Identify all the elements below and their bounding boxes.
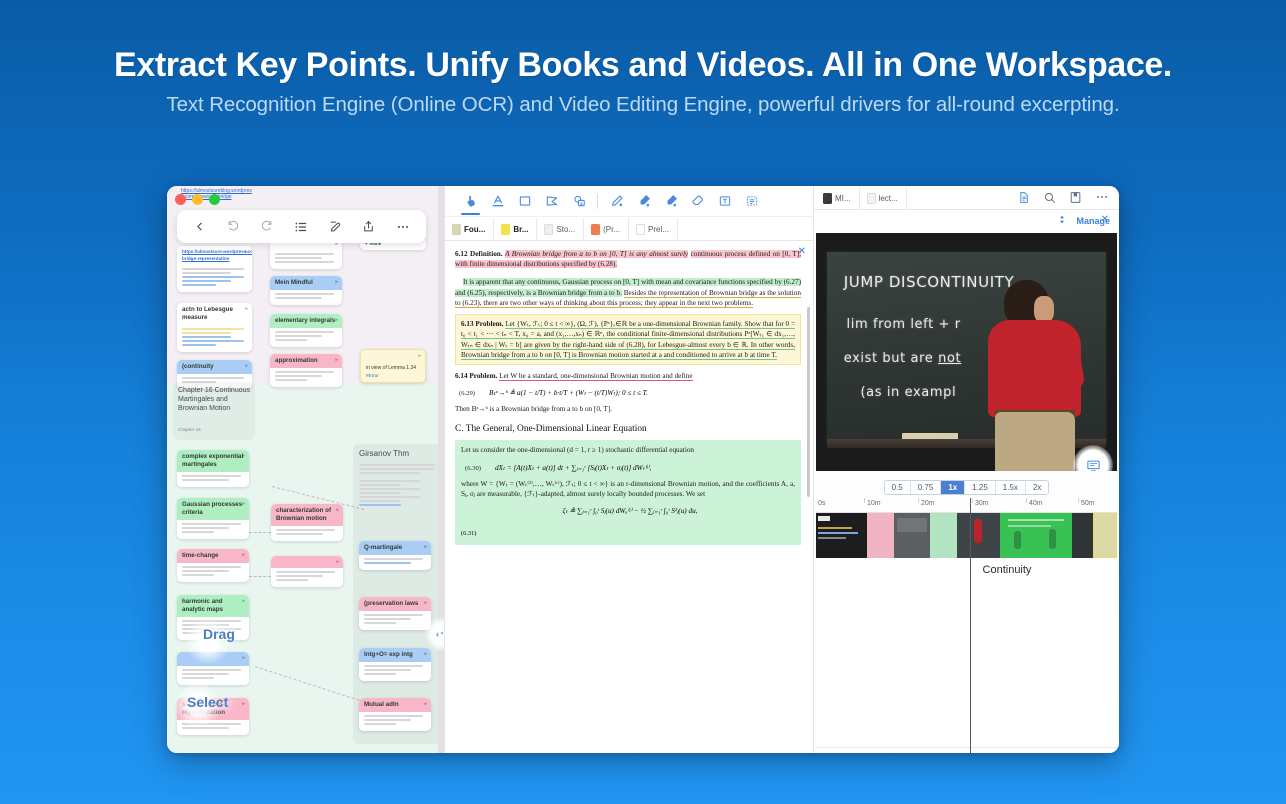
lecturer-pants	[995, 412, 1075, 471]
equation-zeta-expression: ζₜ ≜ ∑ⱼ₌₁ʳ ∫₀ᵗ Sⱼ(u) dWᵤ⁽ʲ⁾ − ½ ∑ⱼ₌₁ʳ ∫₀…	[563, 506, 698, 515]
note-tool-icon[interactable]	[738, 188, 765, 215]
mindmap-node-label: elementary integrals	[275, 317, 335, 324]
drag-label: Drag	[203, 626, 235, 642]
equation-631-number: (6.31)	[461, 530, 476, 537]
bookmark-icon[interactable]	[1069, 191, 1082, 209]
chevron-left-icon: ‹	[436, 629, 439, 639]
mindmap-node-label: (preservation laws	[364, 600, 418, 607]
sort-icon[interactable]	[1057, 212, 1067, 230]
edit-icon[interactable]	[329, 220, 342, 233]
timeline-ruler[interactable]: 0s 10m 20m 30m 40m 50m	[816, 498, 1117, 513]
tab-label: Fou...	[464, 225, 485, 234]
mindmap-pane[interactable]: https://almostsureblog.wordpress.com/bro…	[167, 186, 444, 753]
timeline-clip[interactable]	[867, 513, 894, 558]
blackboard-line-3: exist but are not	[844, 351, 961, 366]
ruler-tick: 50m	[1081, 500, 1095, 507]
definition-paragraph: 6.12 Definition. A Brownian bridge from …	[455, 249, 801, 269]
document-scrollbar[interactable]	[807, 307, 810, 497]
page-subtitle: Text Recognition Engine (Online OCR) and…	[0, 93, 1286, 117]
mindmap-node[interactable]: ▸ in view of Lemma 1.34 #Error	[360, 349, 426, 383]
undo-icon[interactable]	[227, 220, 240, 233]
mindmap-node[interactable]: ▸Mein Mindful	[270, 276, 342, 305]
select-label: Select	[187, 694, 228, 710]
pointer-tool-icon[interactable]	[457, 188, 484, 215]
equation-629-expression: Bₜᵃ→ᵇ ≜ a(1 − t/T) + b·t/T + (Wₜ − (t/T)…	[489, 388, 648, 397]
mindmap-node-label: in view of Lemma 1.34	[366, 365, 420, 371]
equation-629-followup: Then Bᵃ→ᵇ is a Brownian bridge from a to…	[455, 404, 801, 414]
handle-dot-icon: •	[441, 631, 443, 637]
apparent-paragraph: It is apparent that any continuous, Gaus…	[455, 277, 801, 308]
highlighter-yellow-icon[interactable]	[657, 188, 684, 215]
para-2: Let us consider the one-dimensional (d =…	[461, 445, 795, 455]
equation-630-number: (6.30)	[465, 465, 481, 472]
document-actions[interactable]	[1017, 190, 1109, 209]
mindmap-node[interactable]: ▸Mutual adtn	[359, 698, 431, 731]
more-icon[interactable]	[1095, 190, 1109, 209]
mindmap-toolbar[interactable]	[177, 210, 426, 243]
prob-613-number: 6.13	[461, 320, 474, 328]
tab-favicon	[636, 224, 645, 235]
app-window: https://almostsureblog.wordpress.com/bro…	[167, 186, 1119, 753]
mindmap-node[interactable]: ▸characterization of Brownian motion	[271, 504, 343, 541]
more-icon[interactable]	[396, 220, 410, 234]
back-icon[interactable]	[193, 220, 206, 233]
tab-favicon	[544, 224, 553, 235]
timeline-clip[interactable]	[930, 513, 957, 558]
mindmap-node-label: Q-martingale	[364, 544, 402, 551]
speed-option-1_5x[interactable]: 1.5x	[996, 481, 1026, 494]
lecturer-figure	[988, 280, 1084, 471]
section-heading-c: C. The General, One-Dimensional Linear E…	[455, 424, 801, 434]
tab-brownian[interactable]: Br...	[494, 218, 537, 240]
problem-613-block: 6.13 Problem. Let {Wₜ, ℱₜ; 0 ≤ t < ∞}, (…	[455, 314, 801, 365]
tab-favicon	[452, 224, 461, 235]
video-player[interactable]: JUMP DISCONTINUITY. lim from left + r ex…	[816, 233, 1117, 471]
mindmap-node[interactable]: ▸approximation	[270, 354, 342, 387]
redo-icon[interactable]	[260, 220, 273, 233]
video-pane[interactable]: MI... lect... Manage ✕ JUMP DISCONTINUIT…	[813, 186, 1119, 753]
tab-mit[interactable]: MI...	[816, 187, 860, 209]
tab-pr[interactable]: (Pr...	[584, 218, 629, 240]
speed-option-1x[interactable]: 1x	[941, 481, 965, 494]
mindmap-girsanov-title: Girsanov Thm	[359, 449, 409, 459]
speed-option-0_75[interactable]: 0.75	[911, 481, 942, 494]
mindmap-node-label: (continuity	[182, 363, 214, 370]
tab-foundations[interactable]: Fou...	[445, 218, 494, 240]
text-box-tool-icon[interactable]	[711, 188, 738, 215]
blackboard-line-2: lim from left + r	[847, 317, 961, 332]
maximize-button[interactable]	[209, 194, 220, 205]
video-timeline[interactable]: Continuity	[816, 513, 1117, 753]
selected-clip-label: Continuity	[976, 563, 1039, 577]
mindmap-node[interactable]: ▸complex exponential martingales	[177, 450, 249, 487]
mindmap-node-label: Mein Mindful	[275, 279, 313, 286]
prob-614-label: Problem	[469, 372, 495, 380]
mindmap-node-label: actn to Lebesgue measure	[182, 306, 233, 321]
ruler-tick: 40m	[1029, 500, 1043, 507]
timeline-clip[interactable]	[894, 513, 930, 558]
mindmap-node-label: Gaussian processes criteria	[182, 501, 242, 516]
toolbar-separator	[597, 194, 598, 209]
linear-equation-block: Let us consider the one-dimensional (d =…	[455, 440, 801, 545]
timeline-clip-selected[interactable]	[1000, 513, 1072, 558]
equation-629-number: (6.29)	[459, 390, 475, 397]
mindmap-node[interactable]: ▸Q-martingale	[359, 541, 431, 570]
equation-zeta: ζₜ ≜ ∑ⱼ₌₁ʳ ∫₀ᵗ Sⱼ(u) dWᵤ⁽ʲ⁾ − ½ ∑ⱼ₌₁ʳ ∫₀…	[465, 506, 795, 515]
timeline-clip[interactable]	[957, 513, 999, 558]
lasso-select-tool-icon[interactable]	[538, 188, 565, 215]
share-icon[interactable]	[362, 220, 375, 233]
timeline-clip[interactable]	[1093, 513, 1117, 558]
mindmap-node[interactable]: ▸(preservation laws	[359, 597, 431, 630]
mindmap-node[interactable]: ▸time-change	[177, 549, 249, 582]
lecturer-face	[1034, 296, 1054, 323]
mindmap-node-label: harmonic and analytic maps	[182, 598, 223, 613]
tab-label: Sto...	[556, 225, 575, 234]
mindmap-node[interactable]: ▸ https://almostsure.wordpress.com/brown…	[177, 246, 252, 292]
prob-614-text: Let W be a standard, one-dimensional Bro…	[499, 372, 692, 381]
tab-stochastic[interactable]: Sto...	[537, 218, 584, 240]
mindmap-node-label: Intg+O= exp intg	[364, 651, 413, 658]
timeline-clip[interactable]	[816, 513, 867, 558]
tab-favicon	[591, 224, 600, 235]
def-text-1: A Brownian bridge from a to b on [0, T] …	[505, 250, 688, 258]
tab-favicon	[501, 224, 510, 235]
mindmap-node-label: Mutual adtn	[364, 701, 399, 708]
blackboard-line-4: (as in exampl	[860, 385, 956, 400]
mindmap-node[interactable]: ▸elementary integrals	[270, 314, 342, 347]
tab-label: lect...	[879, 194, 898, 203]
ruler-tick: 30m	[975, 500, 989, 507]
timeline-gridline	[816, 747, 1117, 748]
timeline-playhead[interactable]	[970, 498, 971, 753]
document-pane[interactable]: Fou... Br... Sto... (Pr... Prel... ✕	[444, 186, 813, 753]
rect-select-tool-icon[interactable]	[511, 188, 538, 215]
mindmap-node[interactable]: ▸	[271, 556, 343, 587]
tab-preliminaries[interactable]: Prel...	[629, 218, 678, 240]
mindmap-node-label: time-change	[182, 552, 218, 559]
mindmap-chapter-title: Chapter 16 Continuous Martingales and Br…	[178, 386, 252, 413]
mindmap-girsanov-body	[359, 464, 439, 508]
highlighter-blue-icon[interactable]	[630, 188, 657, 215]
playback-speed-control[interactable]: 0.5 0.75 1x 1.25 1.5x 2x	[814, 476, 1119, 498]
mindmap-node-label: approximation	[275, 357, 318, 364]
pane-divider[interactable]	[438, 186, 444, 753]
document-toolbar[interactable]	[445, 186, 813, 217]
mindmap-node[interactable]: ▸Intg+O= exp intg	[359, 648, 431, 681]
equation-630-expression: dXₜ = [A(t)Xₜ + a(t)] dt + ∑ⱼ₌₁ʳ [Sⱼ(t)X…	[495, 463, 651, 472]
manage-button[interactable]: Manage	[1076, 216, 1110, 226]
speed-option-0_5[interactable]: 0.5	[885, 481, 911, 494]
timeline-track[interactable]	[816, 513, 1117, 558]
prob-613-text: Let {Wₜ, ℱₜ; 0 ≤ t < ∞}, (Ω, ℱ), {Pˣ}ₓ∈ℝ…	[461, 320, 795, 360]
ruler-tick: 20m	[921, 500, 935, 507]
timeline-clip[interactable]	[1072, 513, 1093, 558]
tab-label: MI...	[835, 194, 851, 203]
problem-614-block: 6.14 Problem. Let W be a standard, one-d…	[455, 371, 801, 381]
speed-option-1_25[interactable]: 1.25	[965, 481, 996, 494]
def-label: Definition	[470, 250, 501, 258]
prob-613-label: Problem	[475, 320, 501, 328]
para-3: where W = {Wₜ = (Wₜ⁽¹⁾,…, Wₜ⁽ʳ⁾), ℱₜ; 0 …	[461, 479, 795, 499]
window-controls[interactable]	[175, 194, 220, 205]
page-title: Extract Key Points. Unify Books and Vide…	[0, 46, 1286, 85]
tab-favicon	[867, 193, 876, 204]
equation-629: (6.29) Bₜᵃ→ᵇ ≜ a(1 − t/T) + b·t/T + (Wₜ …	[459, 388, 801, 397]
speed-option-2x[interactable]: 2x	[1026, 481, 1048, 494]
mindmap-chapter-subtitle: Chapter 16	[178, 427, 201, 433]
pen-tool-icon[interactable]	[603, 188, 630, 215]
document-tabbar[interactable]: Fou... Br... Sto... (Pr... Prel...	[445, 217, 813, 241]
document-content[interactable]: ✕ 6.12 Definition. A Brownian bridge fro…	[445, 241, 813, 753]
tab-favicon	[823, 193, 832, 204]
manage-row[interactable]: Manage	[1057, 212, 1110, 230]
ruler-tick: 10m	[867, 500, 881, 507]
mindmap-node[interactable]: ▸Gaussian processes criteria	[177, 498, 249, 539]
outline-list-icon[interactable]	[294, 220, 308, 234]
text-select-tool-icon[interactable]	[484, 188, 511, 215]
snip-tool-icon[interactable]	[565, 188, 592, 215]
hero-section: Extract Key Points. Unify Books and Vide…	[0, 0, 1286, 117]
equation-630: (6.30) dXₜ = [A(t)Xₜ + a(t)] dt + ∑ⱼ₌₁ʳ …	[465, 463, 795, 472]
blackboard-line-3-underlined: not	[938, 351, 961, 366]
minimize-button[interactable]	[192, 194, 203, 205]
close-button[interactable]	[175, 194, 186, 205]
blackboard-line-3-pre: exist but are	[844, 351, 938, 366]
page-icon[interactable]	[1017, 191, 1030, 209]
eraser-tool-icon[interactable]	[684, 188, 711, 215]
close-icon[interactable]: ✕	[798, 246, 806, 257]
snip-video-icon[interactable]	[1073, 445, 1113, 471]
mindmap-node-label: characterization of Brownian motion	[276, 507, 331, 522]
prob-614-number: 6.14	[455, 372, 468, 380]
tab-label: (Pr...	[603, 225, 620, 234]
tab-label: Prel...	[648, 225, 669, 234]
mindmap-node-label: complex exponential martingales	[182, 453, 243, 468]
tab-label: Br...	[513, 225, 528, 234]
def-number: 6.12	[455, 250, 468, 258]
tab-lecture[interactable]: lect...	[860, 187, 907, 209]
ruler-tick: 0s	[818, 500, 825, 507]
search-icon[interactable]	[1043, 191, 1056, 209]
mindmap-node[interactable]: ▸actn to Lebesgue measure	[177, 303, 252, 352]
